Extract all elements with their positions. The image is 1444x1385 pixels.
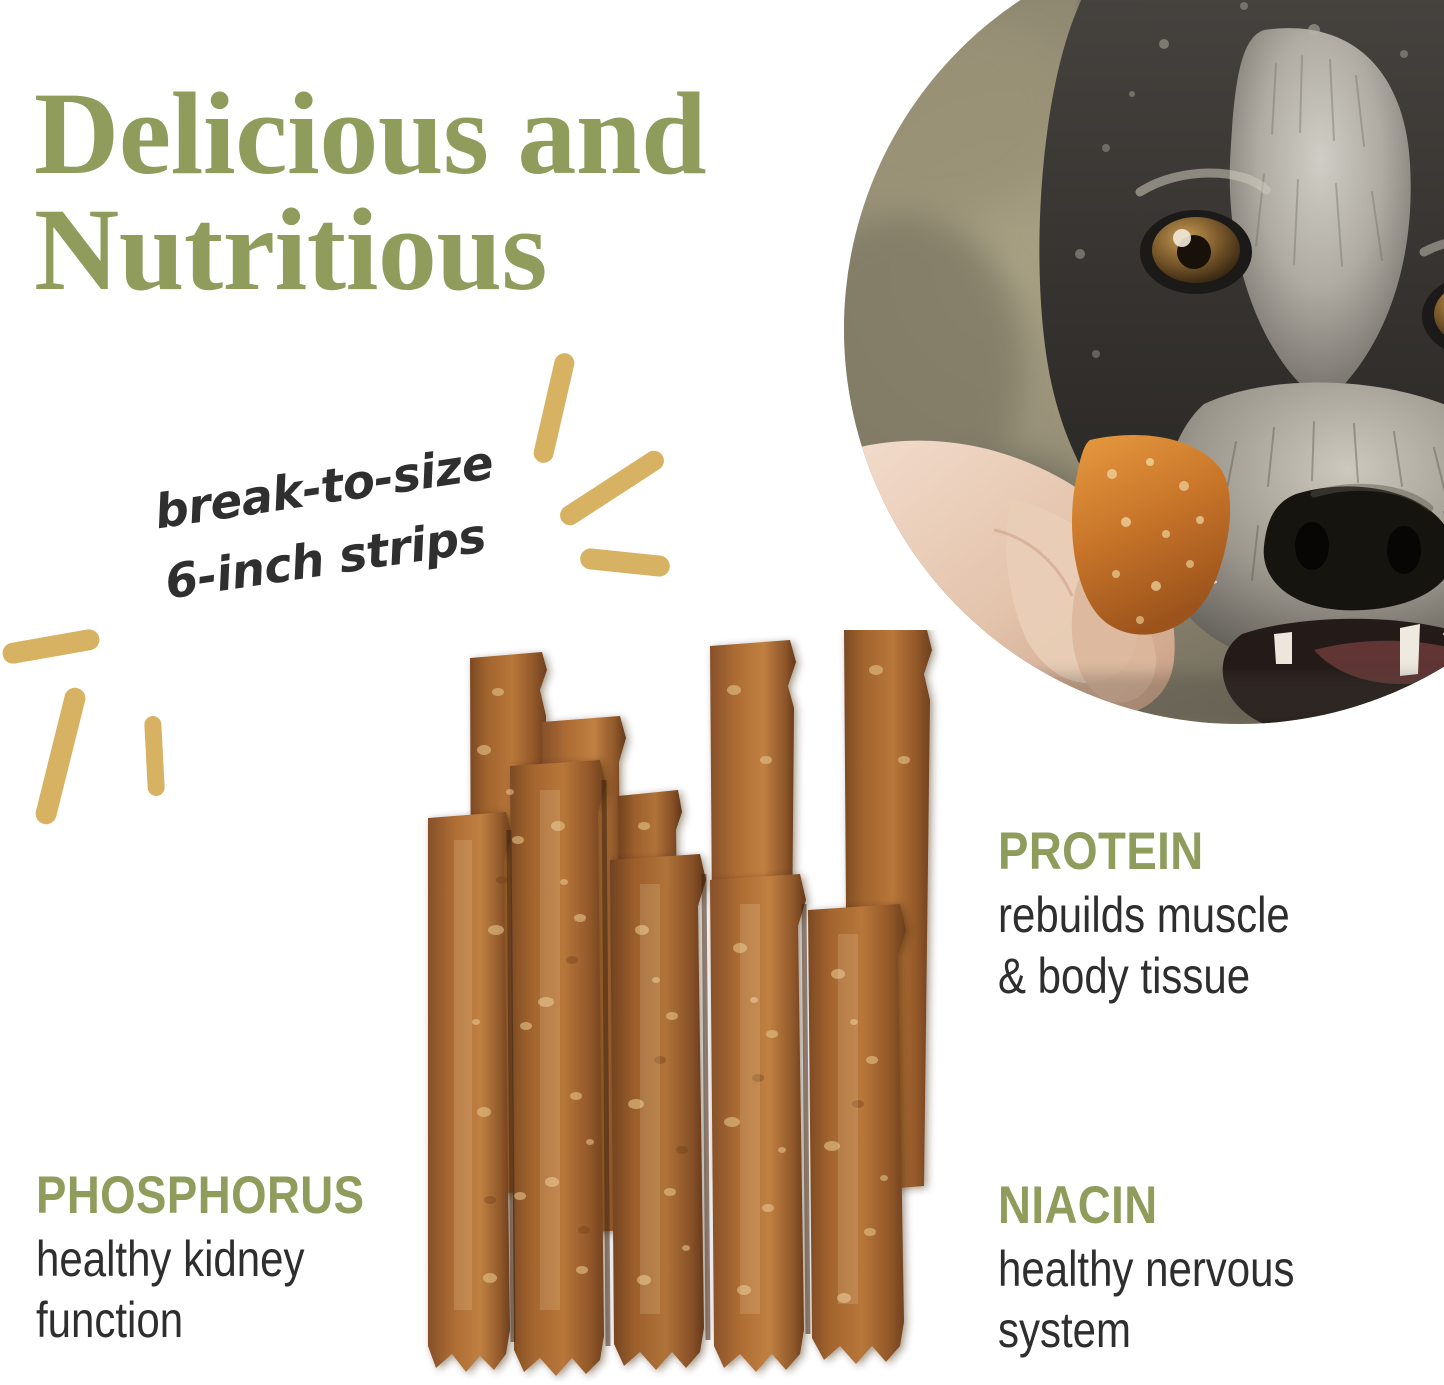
sparkle-stroke [33, 686, 87, 827]
callout-body-line-2: & body tissue [998, 946, 1290, 1007]
headline-line-1: Delicious and [34, 76, 834, 192]
sparkle-stroke [144, 716, 165, 797]
callout-body: healthy kidney function [36, 1229, 357, 1351]
callout-body-line-2: system [998, 1300, 1295, 1361]
benefit-callout-phosphorus: PHOSPHORUS healthy kidney function [36, 1168, 418, 1351]
benefit-callout-niacin: NIACIN healthy nervous system [998, 1178, 1351, 1361]
callout-title: PHOSPHORUS [36, 1168, 364, 1223]
benefit-callout-protein: PROTEIN rebuilds muscle & body tissue [998, 824, 1345, 1007]
callout-body-line-1: healthy nervous [998, 1239, 1295, 1300]
jerky-strips [414, 630, 984, 1382]
callout-body-line-2: function [36, 1290, 357, 1351]
callout-title: NIACIN [998, 1178, 1302, 1233]
dog-eating-treat-photo [844, 0, 1444, 724]
callout-body: rebuilds muscle & body tissue [998, 885, 1290, 1007]
callout-body-line-1: rebuilds muscle [998, 885, 1290, 946]
callout-title: PROTEIN [998, 824, 1297, 879]
dog-left-eye [1140, 210, 1252, 294]
page-title: Delicious and Nutritious [34, 76, 834, 307]
callout-body-line-1: healthy kidney [36, 1229, 357, 1290]
dog-photo-illustration [844, 0, 1444, 724]
sparkle-stroke [1, 628, 101, 666]
callout-body: healthy nervous system [998, 1239, 1295, 1361]
headline-line-2: Nutritious [34, 192, 834, 308]
sparkle-burst-left [0, 612, 200, 842]
jerky-strips-illustration [414, 630, 984, 1382]
product-infographic: Delicious and Nutritious break-to-size 6… [0, 0, 1444, 1385]
